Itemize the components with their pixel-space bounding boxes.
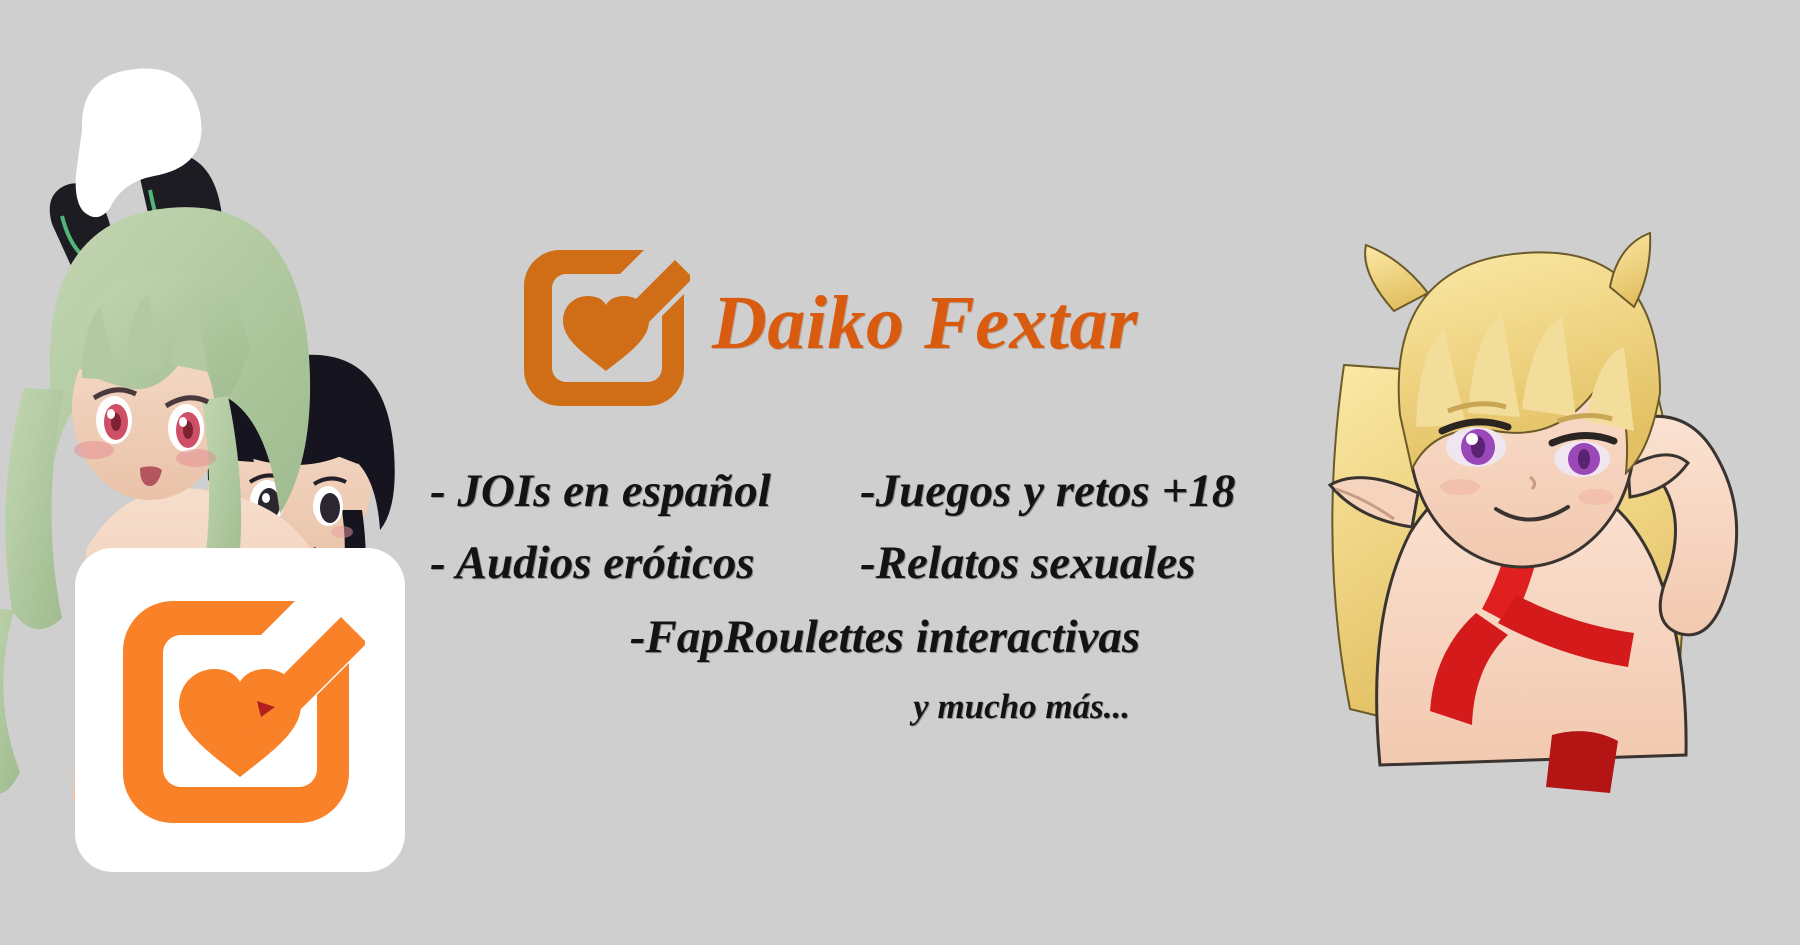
feature-left-column-1: - JOIs en español	[430, 455, 860, 527]
feature-item-faproulettes: -FapRoulettes interactivas	[430, 599, 1310, 675]
patreon-logo-icon	[70, 62, 210, 222]
brand-checkbox-heart-pencil-icon	[520, 238, 690, 408]
artwork-right-character	[1290, 215, 1800, 795]
feature-item-audios: - Audios eróticos	[430, 527, 860, 599]
checkbox-heart-pencil-icon	[115, 585, 365, 835]
feature-item-jois: - JOIs en español	[430, 455, 860, 527]
feature-row-2: - Audios eróticos -Relatos sexuales	[430, 527, 1310, 599]
feature-list: - JOIs en español -Juegos y retos +18 - …	[430, 455, 1310, 733]
brand-header: Daiko Fextar	[520, 238, 1138, 408]
feature-item-relatos: -Relatos sexuales	[860, 527, 1300, 599]
feature-right-column-1: -Juegos y retos +18	[860, 455, 1300, 527]
avatar-card[interactable]	[75, 548, 405, 872]
feature-row-1: - JOIs en español -Juegos y retos +18	[430, 455, 1310, 527]
feature-item-juegos: -Juegos y retos +18	[860, 455, 1300, 527]
patreon-banner: Daiko Fextar - JOIs en español -Juegos y…	[0, 0, 1800, 945]
page-title: Daiko Fextar	[712, 285, 1138, 361]
feature-left-column-2: - Audios eróticos	[430, 527, 860, 599]
feature-closing-line: y mucho más...	[430, 675, 1310, 733]
feature-right-column-2: -Relatos sexuales	[860, 527, 1300, 599]
